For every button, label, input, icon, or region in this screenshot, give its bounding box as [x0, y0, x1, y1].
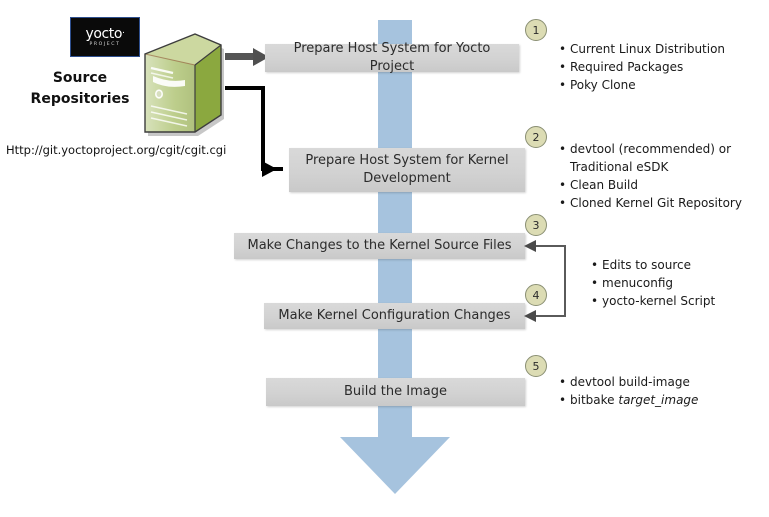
step-2-note-item-continuation: Traditional eSDK — [570, 159, 766, 176]
step-2-note-item: devtool (recommended) or — [570, 141, 766, 158]
step-1-box-label: Prepare Host System for Yocto Project — [273, 40, 511, 75]
step-5-number: 5 — [533, 360, 540, 373]
steps-3-4-shared-notes: Edits to source menuconfig yocto-kernel … — [588, 257, 763, 311]
step-2-box[interactable]: Prepare Host System for Kernel Developme… — [289, 148, 525, 192]
step-2-number-badge: 2 — [525, 126, 547, 148]
step-5-box-label: Build the Image — [344, 383, 447, 401]
step-1-number-badge: 1 — [525, 19, 547, 41]
bracket-arrowhead-to-step4 — [524, 310, 536, 322]
step-4-box[interactable]: Make Kernel Configuration Changes — [264, 303, 525, 329]
step-5-notes: devtool build-image bitbake target_image — [556, 374, 756, 410]
shared-note-item: Edits to source — [602, 257, 763, 274]
source-label-line1: Source — [20, 68, 140, 89]
step-2-box-label: Prepare Host System for Kernel Developme… — [297, 152, 517, 187]
logo-dot: · — [122, 28, 124, 38]
logo-subtitle: PROJECT — [89, 43, 120, 48]
step-1-box[interactable]: Prepare Host System for Yocto Project — [265, 44, 519, 72]
connector-server-to-step2-h1 — [225, 86, 265, 90]
source-repositories-label: Source Repositories — [20, 68, 140, 110]
step-4-box-label: Make Kernel Configuration Changes — [278, 307, 510, 325]
step-2-note-item: Clean Build — [570, 177, 766, 194]
step-4-number: 4 — [533, 289, 540, 302]
step-1-note-item: Required Packages — [570, 59, 761, 76]
step-2-notes: devtool (recommended) or Traditional eSD… — [556, 141, 766, 213]
bracket-connector-top-line — [533, 245, 565, 247]
shared-note-item: yocto-kernel Script — [602, 293, 763, 310]
shared-note-item: menuconfig — [602, 275, 763, 292]
step-1-notes: Current Linux Distribution Required Pack… — [556, 41, 761, 95]
bracket-arrowhead-to-step3 — [524, 240, 536, 252]
step-4-number-badge: 4 — [525, 284, 547, 306]
step-3-box-label: Make Changes to the Kernel Source Files — [248, 237, 512, 255]
step-3-number: 3 — [533, 219, 540, 232]
step-2-note-item: Cloned Kernel Git Repository — [570, 195, 766, 212]
step-1-number: 1 — [533, 24, 540, 37]
diagram-canvas: yocto· PROJECT Source Repositories Http:… — [0, 0, 769, 517]
step-5-box[interactable]: Build the Image — [266, 378, 525, 406]
logo-wordmark: yocto· — [85, 27, 124, 41]
yocto-project-logo: yocto· PROJECT — [70, 17, 140, 57]
step-3-box[interactable]: Make Changes to the Kernel Source Files — [234, 233, 525, 259]
step-1-note-item: Poky Clone — [570, 77, 761, 94]
bracket-connector-vertical — [564, 245, 566, 317]
main-flow-arrow-head — [340, 437, 450, 494]
connector-server-to-step2-arrowhead — [262, 161, 277, 177]
bracket-connector-bottom-line — [533, 315, 565, 317]
source-repositories-url: Http://git.yoctoproject.org/cgit/cgit.cg… — [6, 143, 226, 157]
bitbake-target-placeholder: target_image — [618, 393, 698, 407]
step-5-note-item-bitbake: bitbake target_image — [570, 392, 756, 409]
connector-server-to-step2-v — [261, 86, 265, 170]
step-5-note-item: devtool build-image — [570, 374, 756, 391]
connector-server-to-step1-line — [225, 53, 255, 60]
step-5-number-badge: 5 — [525, 355, 547, 377]
bitbake-command: bitbake — [570, 393, 618, 407]
step-3-number-badge: 3 — [525, 214, 547, 236]
source-label-line2: Repositories — [20, 89, 140, 110]
server-tower-icon — [133, 28, 225, 140]
step-1-note-item: Current Linux Distribution — [570, 41, 761, 58]
step-2-number: 2 — [533, 131, 540, 144]
